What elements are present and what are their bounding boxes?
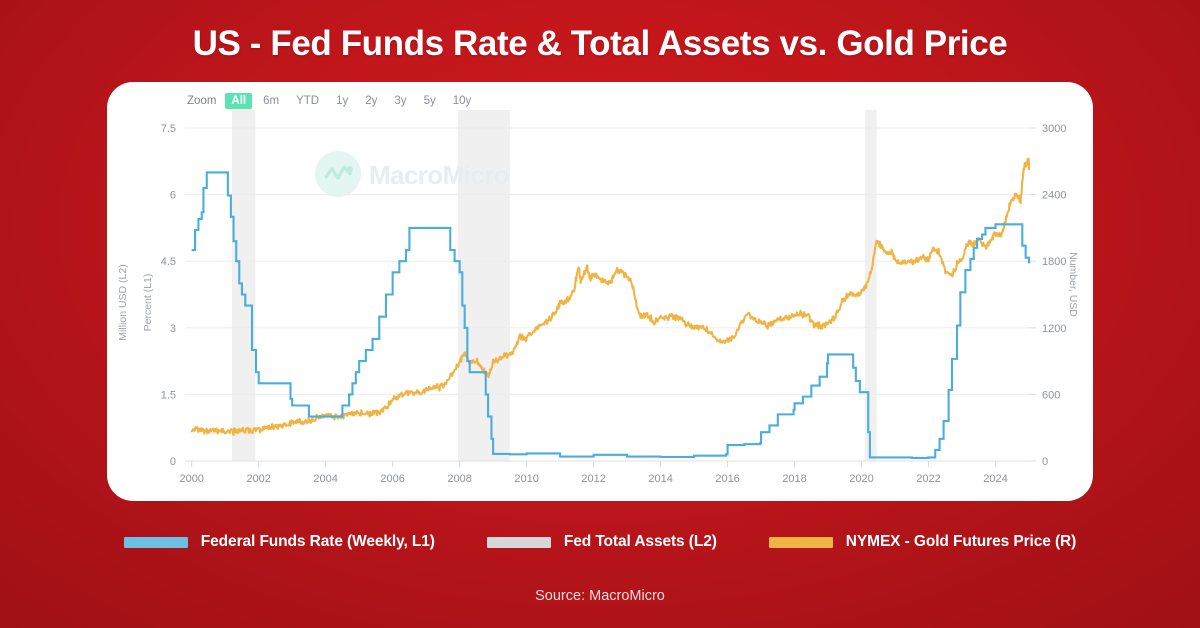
x-axis-tick-label: 2016: [715, 473, 739, 485]
y-axis-left-tick-label: 7.5: [161, 123, 176, 135]
x-axis-tick-label: 2004: [313, 473, 337, 485]
y-axis-left-tick-label: 0: [170, 456, 176, 468]
legend-label-gold-futures: NYMEX - Gold Futures Price (R): [846, 533, 1076, 551]
legend-swatch-gold-futures: [769, 537, 833, 548]
chart-plot-area[interactable]: MacroMicro01.534.567.5060012001800240030…: [107, 82, 1093, 501]
x-axis-tick-label: 2000: [179, 473, 203, 485]
legend-item-fed-total-assets[interactable]: Fed Total Assets (L2): [487, 533, 717, 551]
x-axis-tick-label: 2012: [581, 473, 605, 485]
x-axis-tick-label: 2020: [849, 473, 873, 485]
legend-swatch-fed-funds-rate: [124, 537, 188, 548]
x-axis-tick-label: 2018: [782, 473, 806, 485]
x-axis-tick-label: 2014: [648, 473, 672, 485]
y-axis-right-tick-label: 3000: [1042, 123, 1066, 135]
legend-item-fed-funds-rate[interactable]: Federal Funds Rate (Weekly, L1): [124, 533, 435, 551]
legend-label-fed-funds-rate: Federal Funds Rate (Weekly, L1): [201, 533, 435, 551]
watermark-text: MacroMicro: [369, 160, 509, 190]
x-axis-tick-label: 2022: [916, 473, 940, 485]
y-axis-left-secondary-title: Million USD (L2): [117, 264, 129, 340]
chart-legend: Federal Funds Rate (Weekly, L1) Fed Tota…: [0, 533, 1200, 551]
y-axis-right-tick-label: 0: [1042, 456, 1048, 468]
chart-svg[interactable]: MacroMicro01.534.567.5060012001800240030…: [107, 82, 1093, 501]
y-axis-left-tick-label: 4.5: [161, 256, 176, 268]
y-axis-right-tick-label: 600: [1042, 389, 1060, 401]
y-axis-left-tick-label: 1.5: [161, 389, 176, 401]
watermark-logo-dot: [346, 166, 353, 173]
source-credit: Source: MacroMicro: [0, 588, 1200, 604]
watermark-logo-icon: [315, 151, 361, 197]
y-axis-right-tick-label: 1200: [1042, 323, 1066, 335]
y-axis-left-tick-label: 6: [170, 190, 176, 202]
y-axis-left-title: Percent (L1): [142, 274, 154, 332]
x-axis-tick-label: 2008: [447, 473, 471, 485]
legend-swatch-fed-total-assets: [487, 537, 551, 548]
series-line-gold-futures-price[interactable]: [192, 159, 1029, 435]
x-axis-tick-label: 2006: [380, 473, 404, 485]
page-title: US - Fed Funds Rate & Total Assets vs. G…: [0, 24, 1200, 64]
chart-card: Zoom All 6m YTD 1y 2y 3y 5y 10y MacroMic…: [107, 82, 1093, 501]
legend-item-gold-futures[interactable]: NYMEX - Gold Futures Price (R): [769, 533, 1076, 551]
legend-label-fed-total-assets: Fed Total Assets (L2): [564, 533, 717, 551]
x-axis-tick-label: 2010: [514, 473, 538, 485]
x-axis-tick-label: 2002: [246, 473, 270, 485]
y-axis-left-tick-label: 3: [170, 323, 176, 335]
x-axis-tick-label: 2024: [983, 473, 1007, 485]
y-axis-right-tick-label: 2400: [1042, 190, 1066, 202]
recession-band: [232, 110, 255, 461]
y-axis-right-tick-label: 1800: [1042, 256, 1066, 268]
y-axis-right-title: Number, USD: [1067, 252, 1079, 317]
